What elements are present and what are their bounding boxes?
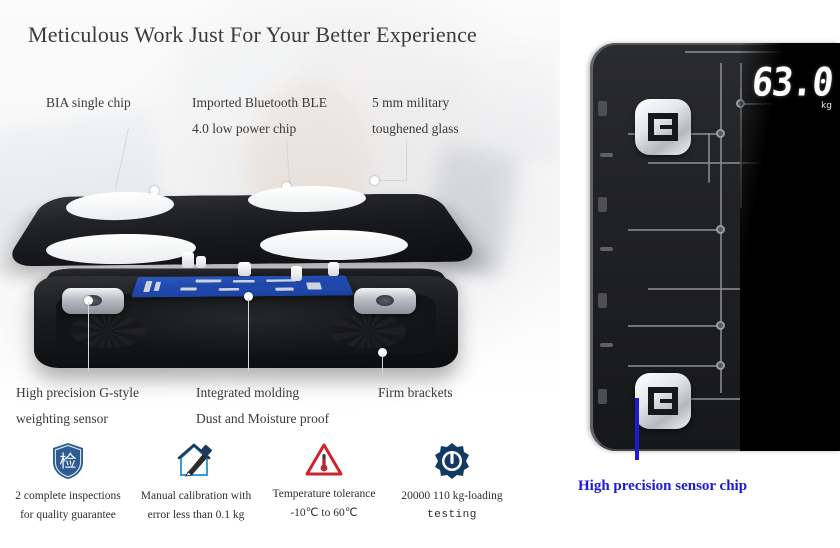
feature-item-load-testing: 20000 110 kg-loading testing [384, 442, 520, 524]
capacitor [182, 252, 194, 268]
right-device-panel: 63.0kg High precision sensor chip [560, 0, 840, 548]
capacitor [238, 262, 251, 276]
feature-caption-line-2: -10℃ to 60℃ [256, 504, 392, 523]
label-line-1: 5 mm military [372, 90, 459, 116]
capacitor [328, 262, 339, 276]
callout-label-sensor-chip: High precision sensor chip [578, 478, 747, 495]
callout-pointer-line [635, 398, 639, 460]
circuit-board [131, 275, 354, 297]
exploded-scale-illustration [10, 148, 480, 373]
weight-display: 63.0kg [740, 66, 832, 110]
leader-line [382, 354, 383, 374]
label-bluetooth: Imported Bluetooth BLE 4.0 low power chi… [192, 90, 327, 143]
capacitor [291, 266, 302, 281]
feature-item-temperature: Temperature tolerance -10℃ to 60℃ [256, 442, 392, 523]
temperature-warning-icon [304, 442, 344, 478]
shield-glyph: 检 [60, 452, 77, 472]
label-bia-chip: BIA single chip [46, 90, 131, 116]
label-line-2: 4.0 low power chip [192, 116, 327, 142]
leader-line [248, 298, 249, 372]
feature-caption-line-1: Temperature tolerance [256, 485, 392, 504]
feature-caption-line-2: testing [384, 506, 520, 524]
g-style-load-sensor [62, 288, 124, 314]
feature-caption-line-1: 2 complete inspections [0, 487, 136, 506]
label-load-sensor: High precision G-style weighting sensor [16, 380, 139, 433]
left-feature-panel: Meticulous Work Just For Your Better Exp… [0, 0, 560, 548]
base-rib-pattern [70, 314, 146, 348]
capacitor [196, 256, 206, 268]
weight-value: 63.0 [750, 64, 834, 103]
label-toughened-glass: 5 mm military toughened glass [372, 90, 459, 143]
leader-line [88, 302, 89, 372]
label-integrated-molding: Integrated molding Dust and Moisture pro… [196, 380, 329, 433]
g-style-load-sensor [354, 288, 416, 314]
inspection-shield-icon: 检 [51, 442, 85, 480]
calibration-pen-icon [176, 442, 216, 480]
feature-item-inspections: 检 2 complete inspections for quality gua… [0, 442, 136, 525]
feature-caption-line-1: Manual calibration with [128, 487, 264, 506]
feature-caption-line-2: error less than 0.1 kg [128, 506, 264, 525]
product-infographic: Meticulous Work Just For Your Better Exp… [0, 0, 840, 548]
label-line-1: Firm brackets [378, 380, 453, 406]
background-blur-shape [470, 40, 560, 160]
gear-load-test-icon [433, 442, 471, 480]
label-line-1: Imported Bluetooth BLE [192, 90, 327, 116]
label-line-2: Dust and Moisture proof [196, 406, 329, 432]
label-line-2: weighting sensor [16, 406, 139, 432]
feature-caption-line-1: 20000 110 kg-loading [384, 487, 520, 506]
page-title: Meticulous Work Just For Your Better Exp… [28, 22, 477, 48]
electrode-pad [260, 230, 408, 260]
label-line-1: BIA single chip [46, 95, 131, 110]
base-rib-pattern [330, 314, 406, 348]
feature-item-calibration: Manual calibration with error less than … [128, 442, 264, 525]
feature-caption-line-2: for quality guarantee [0, 506, 136, 525]
label-line-2: toughened glass [372, 116, 459, 142]
label-firm-brackets: Firm brackets [378, 380, 453, 406]
label-line-1: High precision G-style [16, 380, 139, 406]
label-line-1: Integrated molding [196, 380, 329, 406]
